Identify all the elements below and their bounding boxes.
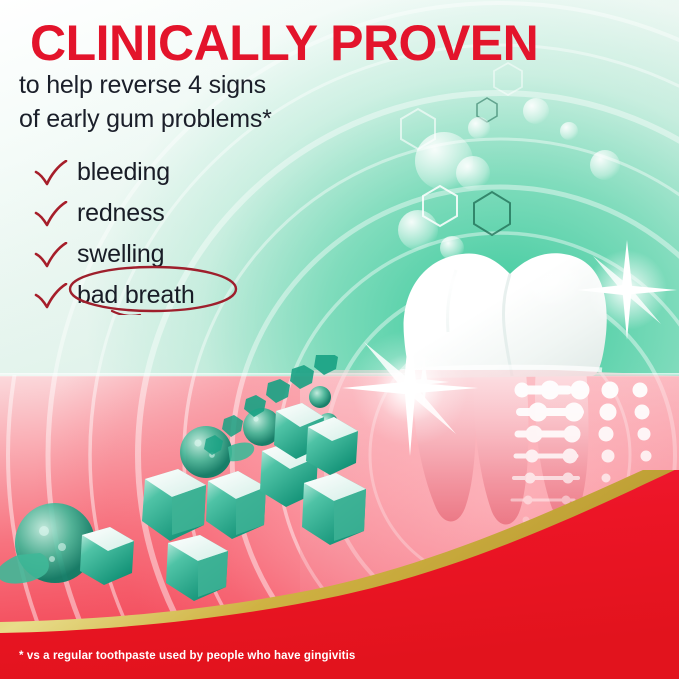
check-icon (34, 201, 68, 227)
check-icon (34, 242, 68, 268)
check-icon (34, 283, 68, 309)
list-item-label: bad breath (77, 281, 195, 310)
page-title: CLINICALLY PROVEN (30, 18, 538, 68)
pink-gum-background-panel (0, 376, 679, 679)
benefit-list: bleeding redness swelling bad breath (34, 152, 294, 316)
footnote-text: * vs a regular toothpaste used by people… (19, 650, 355, 662)
list-item: redness (34, 193, 294, 234)
panel-divider (0, 373, 679, 377)
list-item-label: swelling (77, 240, 164, 269)
subheading: to help reverse 4 signs of early gum pro… (19, 69, 272, 136)
list-item-label: redness (77, 199, 165, 228)
list-item: bleeding (34, 152, 294, 193)
list-item-highlighted: bad breath (34, 275, 294, 316)
list-item: swelling (34, 234, 294, 275)
subheading-line-1: to help reverse 4 signs (19, 69, 272, 103)
list-item-label: bleeding (77, 158, 170, 187)
subheading-line-2: of early gum problems* (19, 103, 272, 137)
advertisement-banner: CLINICALLY PROVEN to help reverse 4 sign… (0, 0, 679, 679)
check-icon (34, 160, 68, 186)
